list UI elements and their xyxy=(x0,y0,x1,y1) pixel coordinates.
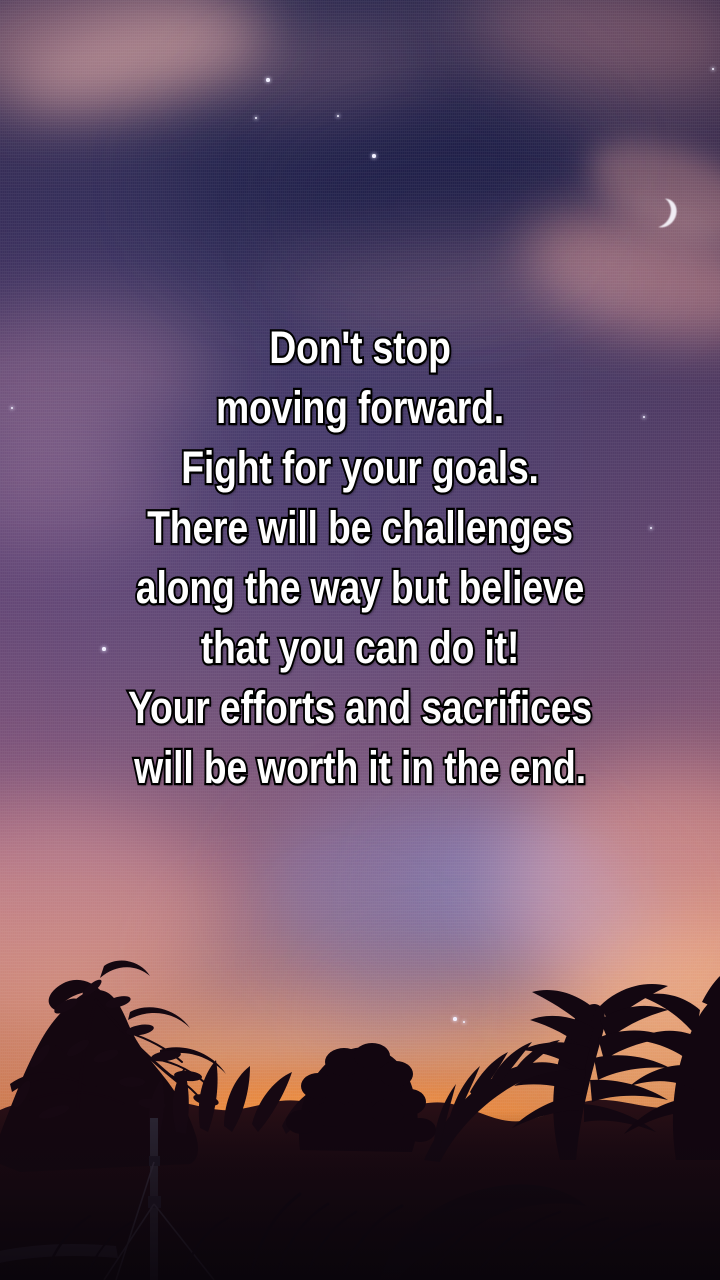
quote-line: moving forward. xyxy=(61,378,659,438)
quote-line: will be worth it in the end. xyxy=(61,738,659,798)
star-icon xyxy=(337,115,339,117)
quote-line: along the way but believe xyxy=(61,558,659,618)
center-bush xyxy=(286,1043,436,1152)
quote-line: that you can do it! xyxy=(61,618,659,678)
foreground-silhouette xyxy=(0,860,720,1280)
quote-line: Don't stop xyxy=(61,318,659,378)
star-icon xyxy=(372,154,376,158)
quote-text: Don't stopmoving forward.Fight for your … xyxy=(61,318,659,798)
quote-line: Fight for your goals. xyxy=(61,438,659,498)
quote-line: There will be challenges xyxy=(61,498,659,558)
quote-wallpaper: Don't stopmoving forward.Fight for your … xyxy=(0,0,720,1280)
quote-line: Your efforts and sacrifices xyxy=(61,678,659,738)
star-icon xyxy=(11,407,13,409)
star-icon xyxy=(266,78,270,82)
sky-dark-patch-two xyxy=(300,120,600,290)
